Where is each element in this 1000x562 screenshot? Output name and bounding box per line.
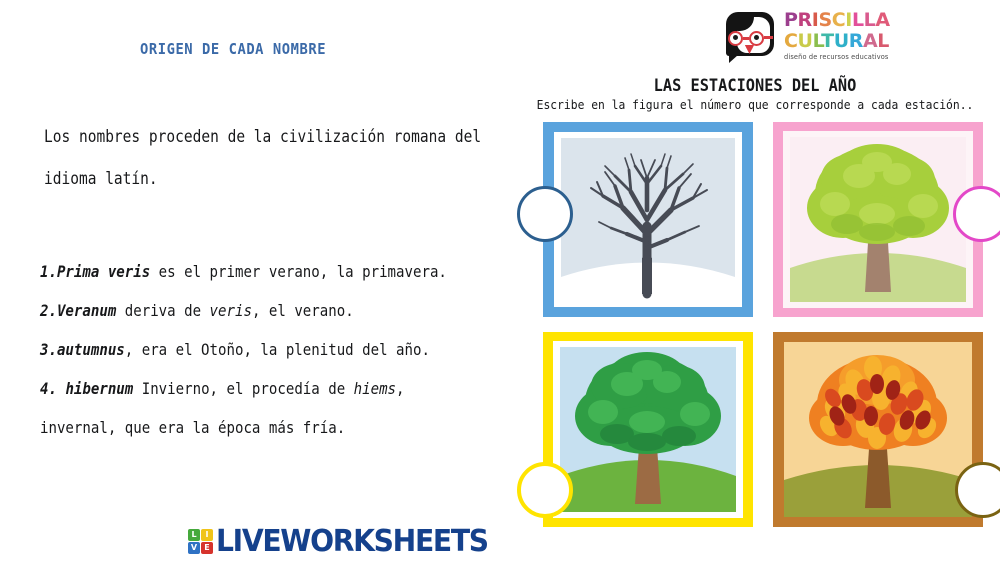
pupil-left (733, 35, 738, 40)
brand-letter-0: C (784, 30, 798, 52)
spring-tree-illustration (773, 122, 983, 317)
live-tile-i: I (201, 529, 213, 541)
seasons-grid (543, 122, 983, 522)
origin-list: 1.Prima veris es el primer verano, la pr… (40, 252, 454, 447)
brand-letter-5: R (849, 30, 863, 52)
summer-tree-illustration (543, 332, 753, 527)
autumn-image (773, 332, 983, 527)
list-item-number: 2. (40, 301, 57, 320)
brand-letter-8: A (875, 9, 889, 31)
season-panel-summer (543, 332, 753, 527)
winter-tree-illustration (543, 122, 753, 317)
list-item-latin: hibernum (65, 379, 133, 398)
list-item-text: , era el Otoño, la plenitud del año. (125, 340, 430, 359)
autumn-tree-illustration (773, 332, 983, 527)
brand-letter-5: I (845, 9, 852, 31)
list-last-line: invernal, que era la época más fría. (40, 408, 454, 447)
brand-letter-3: T (821, 30, 834, 52)
brand-line-priscilla: PRISCILLA (784, 10, 904, 30)
intro-paragraph: Los nombres proceden de la civilización … (44, 116, 449, 200)
season-panel-spring (773, 122, 983, 317)
brand-letter-4: U (834, 30, 849, 52)
worksheet-page: ORIGEN DE CADA NOMBRE Los nombres proced… (0, 0, 1000, 562)
brand-letter-2: L (813, 30, 822, 52)
list-item-latin: autumnus (57, 340, 125, 359)
brand-logo: PRISCILLA CULTURAL diseño de recursos ed… (722, 10, 902, 72)
list-item-text: es el primer verano, la primavera. (150, 262, 447, 281)
summer-image (543, 332, 753, 527)
right-activity-column: PRISCILLA CULTURAL diseño de recursos ed… (510, 0, 1000, 562)
list-item: 1.Prima veris es el primer verano, la pr… (40, 252, 454, 291)
live-logo-tiles: LIVE (188, 529, 213, 554)
pupil-right (754, 35, 759, 40)
left-text-column: ORIGEN DE CADA NOMBRE Los nombres proced… (0, 0, 510, 562)
intro-line-1: Los nombres proceden de la civilización … (44, 116, 449, 158)
intro-line-2: idioma latín. (44, 158, 449, 200)
face-bubble-icon (722, 12, 778, 64)
answer-circle-winter[interactable] (517, 186, 573, 242)
list-item-text: deriva de (116, 301, 209, 320)
season-panel-winter (543, 122, 753, 317)
brand-letter-1: U (798, 30, 813, 52)
live-tile-l: L (188, 529, 200, 541)
list-item-text-tail: , (396, 379, 404, 398)
list-item-latin: Veranum (57, 301, 116, 320)
list-item-text-tail: , el verano. (252, 301, 354, 320)
liveworksheets-watermark: LIVE LIVEWORKSHEETS (188, 524, 505, 558)
glasses-icon (728, 31, 774, 46)
brand-letter-7: L (864, 9, 876, 31)
list-item-number: 1. (40, 262, 57, 281)
liveworksheets-text: LIVEWORKSHEETS (216, 524, 488, 559)
live-tile-e: E (201, 542, 213, 554)
list-item-number: 3. (40, 340, 57, 359)
brand-letter-6: A (863, 30, 877, 52)
list-item-italic: hiems (354, 379, 396, 398)
brand-letter-7: L (877, 30, 889, 52)
brand-letter-0: P (784, 9, 798, 31)
brand-letter-6: L (852, 9, 864, 31)
list-item: 4. hibernum Invierno, el procedía de hie… (40, 369, 454, 408)
live-tile-v: V (188, 542, 200, 554)
answer-circle-summer[interactable] (517, 462, 573, 518)
glasses-temple (764, 36, 773, 39)
list-item-italic: veris (210, 301, 252, 320)
brand-tagline: diseño de recursos educativos (784, 53, 904, 61)
spring-image (773, 122, 983, 317)
brand-line-cultural: CULTURAL (784, 31, 904, 51)
answer-circle-spring[interactable] (953, 186, 1000, 242)
list-item-latin: Prima veris (57, 262, 150, 281)
page-title: ORIGEN DE CADA NOMBRE (140, 40, 326, 58)
activity-title: LAS ESTACIONES DEL AÑO (535, 76, 976, 96)
brand-letter-1: R (798, 9, 812, 31)
list-item-number: 4. (40, 379, 65, 398)
glasses-bridge (743, 37, 749, 40)
list-item: 2.Veranum deriva de veris, el verano. (40, 291, 454, 330)
winter-image (543, 122, 753, 317)
list-item: 3.autumnus, era el Otoño, la plenitud de… (40, 330, 454, 369)
brand-letter-3: S (818, 9, 831, 31)
season-panel-autumn (773, 332, 983, 527)
activity-instruction: Escribe en la figura el número que corre… (535, 97, 976, 112)
brand-wordmark: PRISCILLA CULTURAL diseño de recursos ed… (784, 10, 904, 61)
brand-letter-4: C (832, 9, 846, 31)
list-item-text: Invierno, el procedía de (133, 379, 353, 398)
